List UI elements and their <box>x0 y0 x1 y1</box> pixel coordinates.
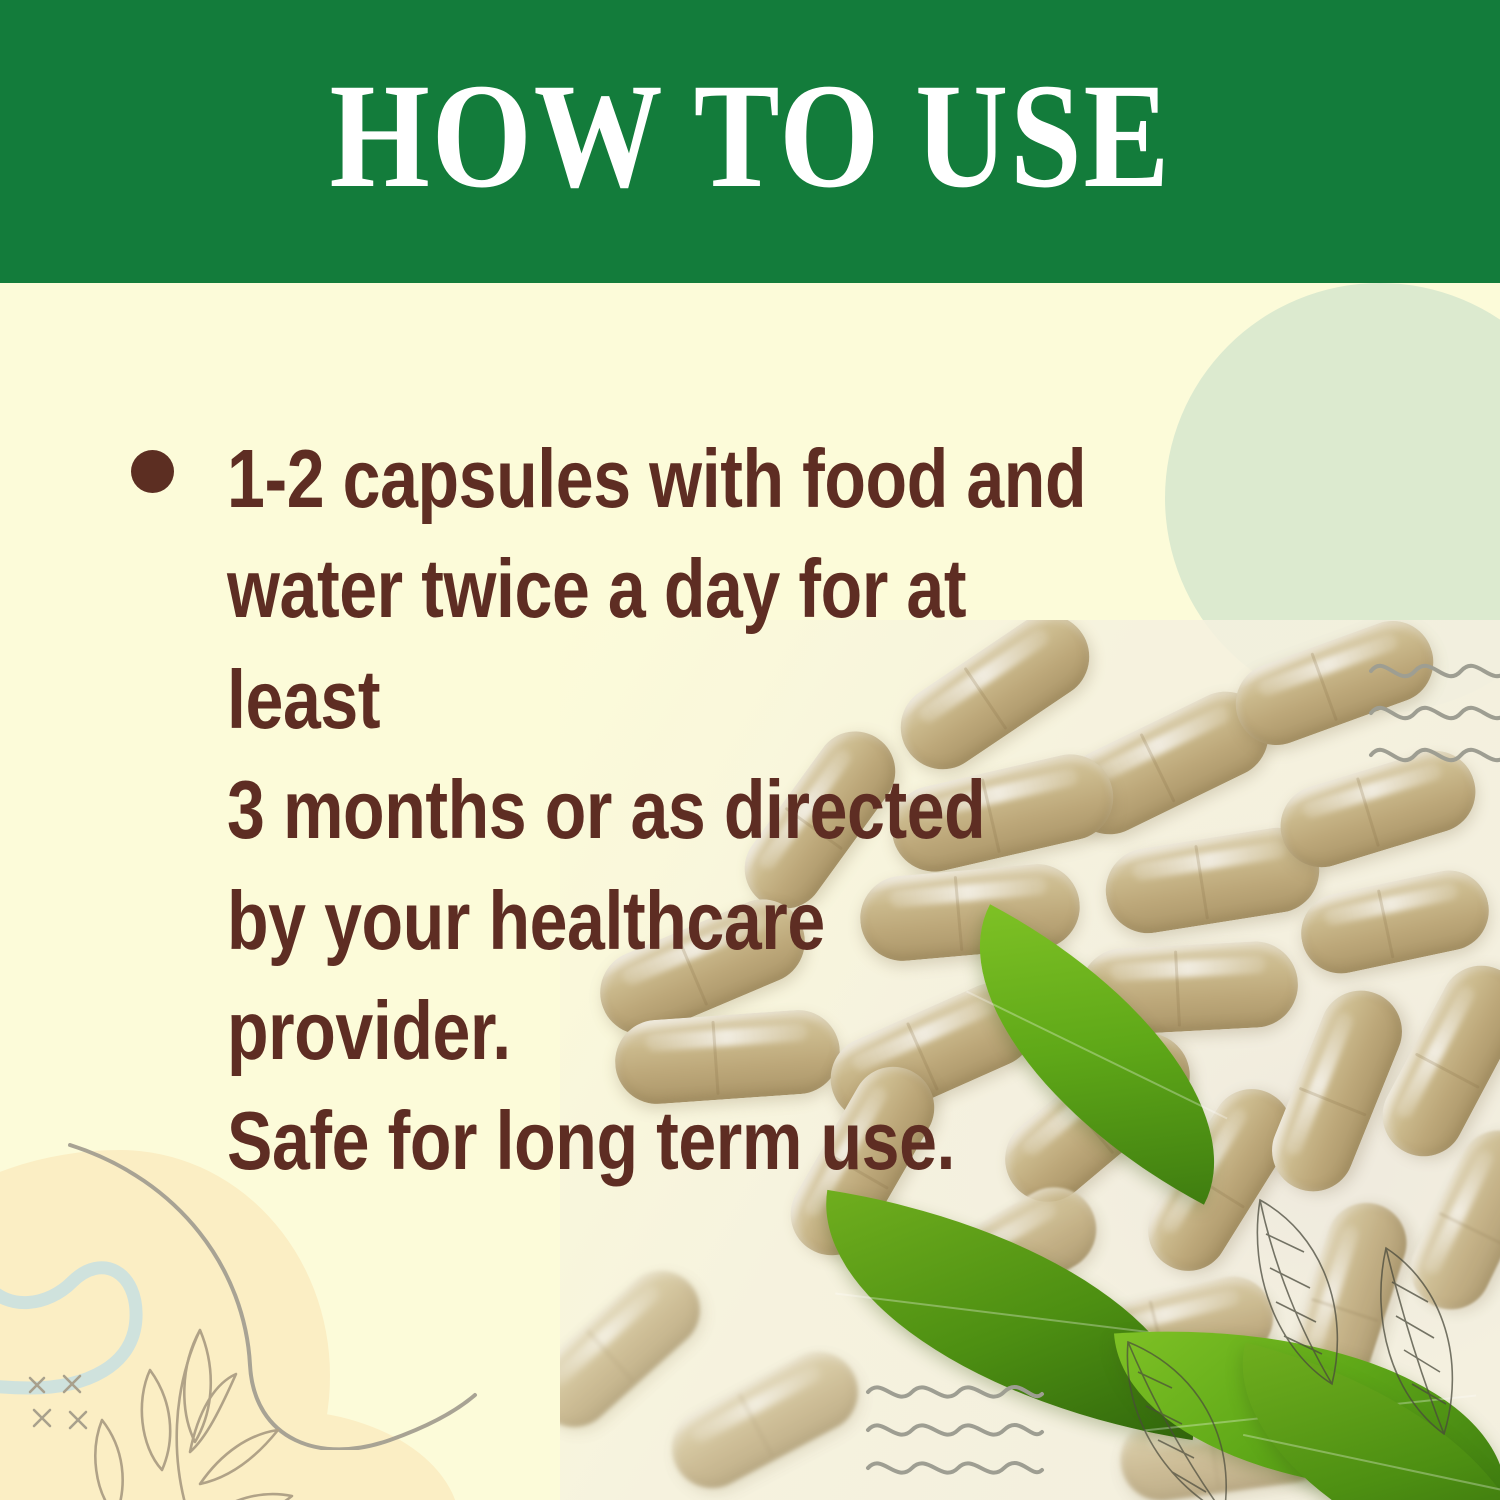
tan-blob-decoration-lower <box>130 1410 460 1500</box>
botanical-sprig-decoration <box>40 1270 370 1500</box>
wave-lines-decoration-bottom <box>862 1378 1047 1488</box>
bullet-point-icon <box>131 450 174 493</box>
how-to-use-infographic: HOW TO USE 1-2 capsules with food and wa… <box>0 0 1500 1500</box>
leaf-outline-decoration <box>1110 1330 1370 1500</box>
page-title: HOW TO USE <box>329 61 1171 211</box>
instructions-text: 1-2 capsules with food and water twice a… <box>227 424 1091 1197</box>
header-banner: HOW TO USE <box>0 0 1500 283</box>
teal-curve-decoration <box>0 1210 190 1410</box>
tan-blob-decoration-upper <box>0 1150 330 1500</box>
wave-lines-decoration-right <box>1365 655 1500 775</box>
instructions-block: 1-2 capsules with food and water twice a… <box>131 424 1281 1197</box>
x-marks-decoration <box>24 1372 134 1442</box>
